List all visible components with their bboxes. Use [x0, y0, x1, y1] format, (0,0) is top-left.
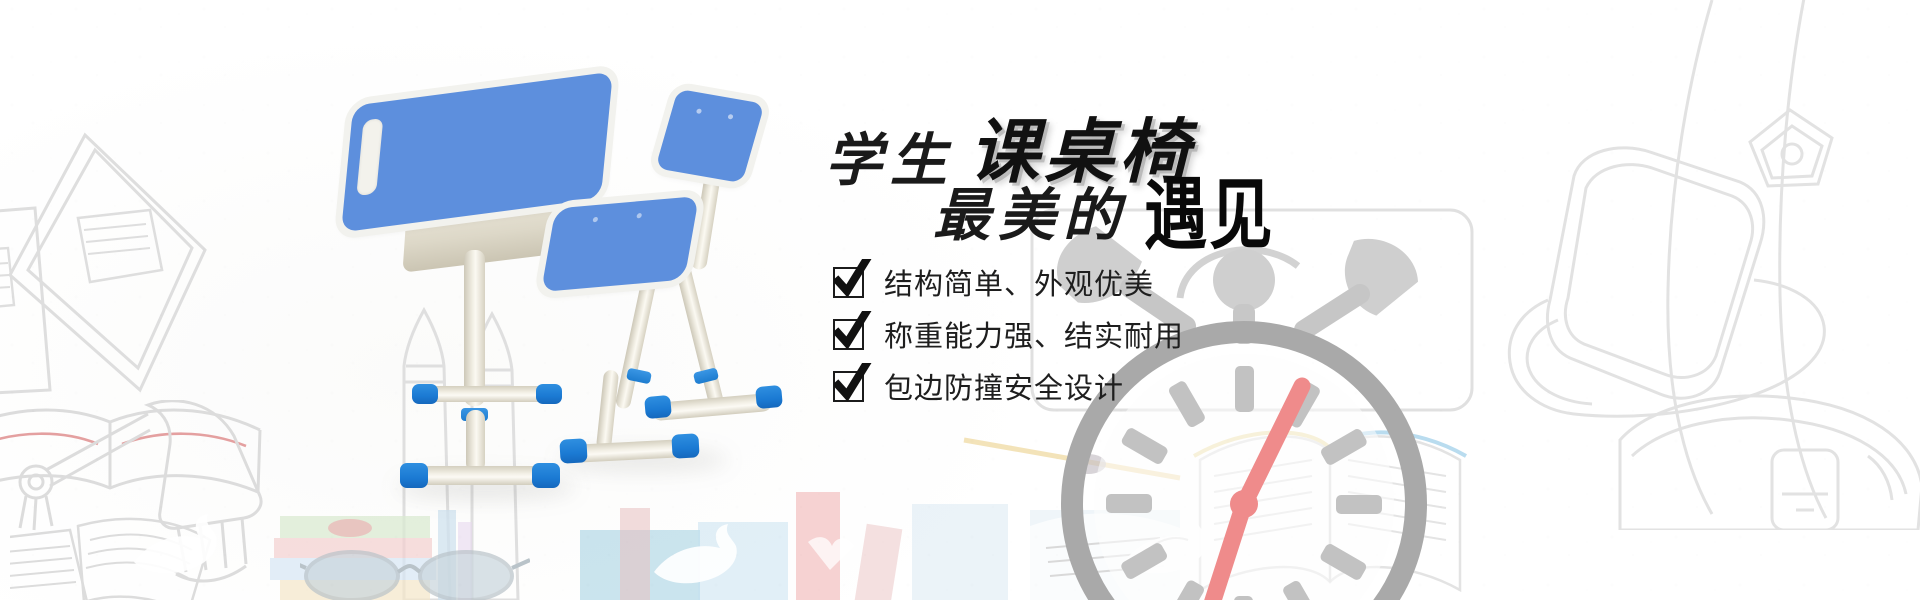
feature-item: 称重能力强、结实耐用: [833, 308, 1184, 360]
desk-crossbar-cap-right: [536, 384, 562, 404]
product-image-desk-and-chair: [300, 70, 860, 490]
feature-item: 结构简单、外观优美: [833, 256, 1184, 308]
desk-crossbar: [420, 386, 552, 402]
checkbox-checked-icon: [833, 319, 864, 350]
banner-copy: 学生 课桌椅 最美的 遇见 结构简单、外观优美: [815, 96, 1515, 496]
headline-line-2: 最美的 遇见: [933, 170, 1280, 252]
dove-illustration: [640, 510, 750, 600]
desk-foot-cap-left: [400, 463, 428, 488]
chair-foot-cap-front-left: [559, 438, 587, 463]
headline: 学生 课桌椅 最美的 遇见: [815, 96, 1515, 170]
chair-foot-cap-front-right: [671, 433, 699, 458]
desk-foot-cap-right: [532, 463, 560, 488]
glasses-illustration: [300, 548, 530, 600]
desk-lamp-line-art: [10, 400, 290, 600]
chair-leg-rear: [674, 260, 725, 409]
feature-label: 称重能力强、结实耐用: [884, 313, 1184, 355]
desk-crossbar-cap-left: [412, 384, 438, 404]
desk-post: [464, 250, 485, 406]
book-stack-line-art: [0, 360, 310, 600]
notebook-line-art: [0, 120, 280, 400]
chair-seat-panel: [541, 196, 699, 292]
dove-illustration: [1110, 500, 1220, 590]
headline-line2-heavy: 遇见: [1144, 180, 1275, 252]
headline-line2-prefix: 最美的: [933, 170, 1128, 252]
desk-foot-bar: [408, 466, 548, 485]
chair-leg-lower: [596, 369, 619, 450]
checkbox-checked-icon: [833, 267, 864, 298]
feature-label: 包边防撞安全设计: [884, 365, 1124, 407]
checkbox-checked-icon: [833, 371, 864, 402]
desk-lower-post: [466, 410, 485, 472]
chair-foot-cap-rear-left: [644, 395, 672, 419]
feature-list: 结构简单、外观优美 称重能力强、结实耐用 包边防撞安全设计: [833, 256, 1184, 412]
chair-backrest-panel: [655, 89, 764, 184]
feature-label: 结构简单、外观优美: [884, 261, 1154, 303]
chair-foot-cap-rear-right: [755, 385, 783, 409]
dove-illustration: [120, 500, 230, 590]
feature-item: 包边防撞安全设计: [833, 360, 1184, 412]
promo-banner: 学生 课桌椅 最美的 遇见 结构简单、外观优美: [0, 0, 1920, 600]
